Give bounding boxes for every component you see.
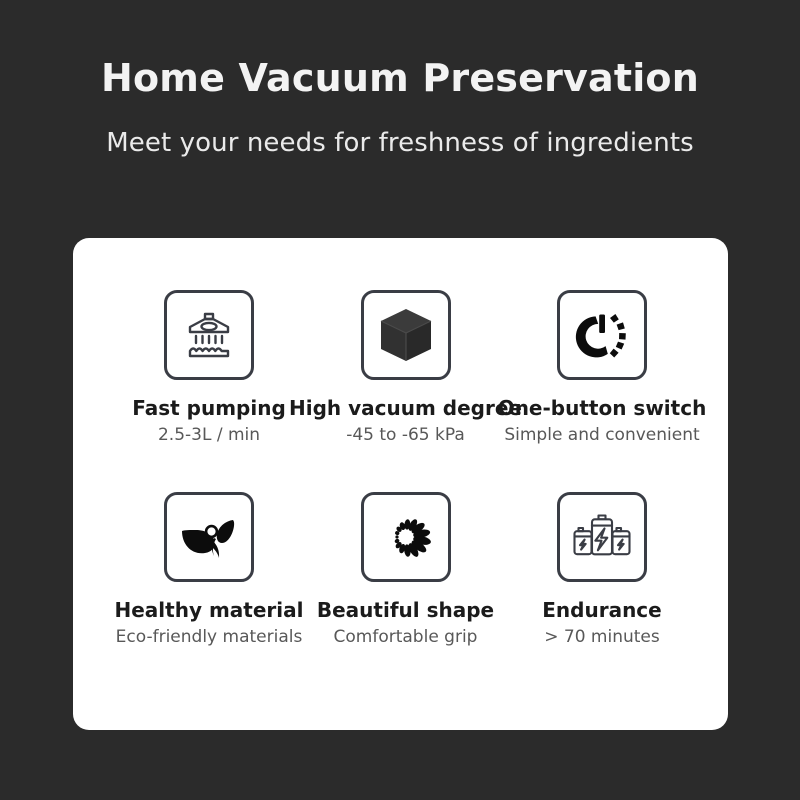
feature-sub: Eco-friendly materials xyxy=(116,628,303,648)
feature-endurance: Endurance > 70 minutes xyxy=(504,492,700,648)
vacuum-pump-icon xyxy=(180,310,238,360)
feature-beautiful-shape: Beautiful shape Comfortable grip xyxy=(308,492,504,648)
feature-row-2: Healthy material Eco-friendly materials xyxy=(107,492,694,648)
eco-leaf-icon xyxy=(178,509,240,565)
feature-label: Beautiful shape xyxy=(317,599,494,622)
feature-fast-pumping: Fast pumping 2.5-3L / min xyxy=(111,290,307,446)
power-button-icon xyxy=(574,307,630,363)
feature-label: One-button switch xyxy=(498,397,707,420)
feature-card: Fast pumping 2.5-3L / min xyxy=(73,238,728,730)
feature-sub: Comfortable grip xyxy=(334,628,478,648)
icon-tile-beautiful-shape xyxy=(361,492,451,582)
icon-tile-high-vacuum-degree xyxy=(361,290,451,380)
icon-tile-fast-pumping xyxy=(164,290,254,380)
icon-tile-one-button-switch xyxy=(557,290,647,380)
cube-icon xyxy=(378,306,434,364)
feature-sub: Simple and convenient xyxy=(504,426,699,446)
header: Home Vacuum Preservation Meet your needs… xyxy=(0,56,800,159)
icon-tile-endurance xyxy=(557,492,647,582)
feature-label: High vacuum degree xyxy=(289,397,522,420)
feature-sub: 2.5-3L / min xyxy=(158,426,260,446)
feature-one-button-switch: One-button switch Simple and convenient xyxy=(504,290,700,446)
feature-grid: Fast pumping 2.5-3L / min xyxy=(73,238,728,730)
page-subtitle: Meet your needs for freshness of ingredi… xyxy=(0,128,800,159)
feature-high-vacuum-degree: High vacuum degree -45 to -65 kPa xyxy=(308,290,504,446)
flower-petals-icon xyxy=(377,508,435,566)
feature-label: Endurance xyxy=(542,599,661,622)
feature-row-1: Fast pumping 2.5-3L / min xyxy=(107,290,694,446)
feature-label: Fast pumping xyxy=(132,397,286,420)
feature-label: Healthy material xyxy=(115,599,304,622)
icon-tile-healthy-material xyxy=(164,492,254,582)
page-title: Home Vacuum Preservation xyxy=(0,56,800,102)
feature-sub: -45 to -65 kPa xyxy=(346,426,465,446)
feature-healthy-material: Healthy material Eco-friendly materials xyxy=(111,492,307,648)
product-feature-banner: Home Vacuum Preservation Meet your needs… xyxy=(0,0,800,800)
battery-bolt-icon xyxy=(571,510,633,564)
feature-sub: > 70 minutes xyxy=(544,628,660,648)
